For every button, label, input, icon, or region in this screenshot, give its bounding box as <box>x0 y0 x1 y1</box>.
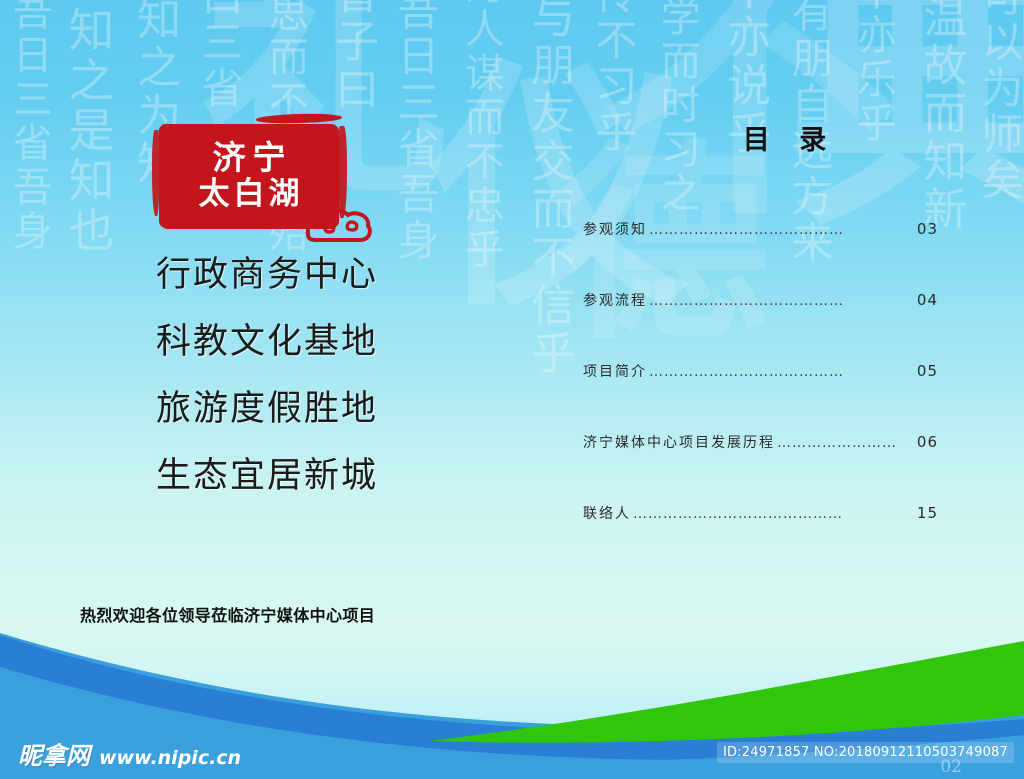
slogan-list: 行政商务中心 科教文化基地 旅游度假胜地 生态宜居新城 <box>156 258 486 526</box>
bg-text-column: 与朋友交而不信乎 <box>524 0 573 378</box>
bg-text-column: 曾子曰 <box>328 0 377 114</box>
toc-entry-page: 06 <box>917 433 938 451</box>
toc-entry[interactable]: 参观须知 ………………………………… 03 <box>583 219 938 239</box>
watermark-url: www.nipic.cn <box>99 747 241 769</box>
toc-entry-page: 05 <box>917 362 938 380</box>
seal-logo: 济宁 太白湖 <box>160 124 338 228</box>
auspicious-cloud-icon <box>304 198 374 242</box>
toc-entry-page: 15 <box>917 504 938 522</box>
bg-text-column: 可以为师矣 <box>976 0 1023 204</box>
watermark-logo: 昵拿网 <box>18 736 90 771</box>
toc-leader-dots: …………………………………… <box>633 506 915 522</box>
bg-text-column: 为人谋而不忠乎 <box>458 0 503 272</box>
toc-leader-dots: ………………………………… <box>649 222 915 238</box>
bg-text-column: 吾日三省吾身 <box>392 0 439 264</box>
bg-text-column: 曰三省 <box>196 0 243 112</box>
table-of-contents: 目 录 参观须知 ………………………………… 03 参观流程 ………………………… <box>583 118 938 523</box>
toc-list: 参观须知 ………………………………… 03 参观流程 …………………………………… <box>583 219 938 523</box>
toc-title: 目 录 <box>641 118 938 157</box>
toc-leader-dots: ………………………………… <box>649 364 915 380</box>
toc-entry[interactable]: 项目简介 ………………………………… 05 <box>583 361 938 381</box>
toc-entry-page: 04 <box>917 291 938 309</box>
slogan-line: 旅游度假胜地 <box>156 392 486 427</box>
toc-entry-label: 参观须知 <box>583 219 647 239</box>
toc-entry-label: 参观流程 <box>583 290 647 310</box>
slogan-line: 生态宜居新城 <box>156 459 486 494</box>
toc-leader-dots: …………………… <box>777 435 915 451</box>
toc-entry[interactable]: 济宁媒体中心项目发展历程 …………………… 06 <box>583 432 938 452</box>
toc-entry-label: 项目简介 <box>583 361 647 381</box>
toc-leader-dots: ………………………………… <box>649 293 915 309</box>
toc-entry[interactable]: 联络人 …………………………………… 15 <box>583 503 938 523</box>
toc-entry-page: 03 <box>917 220 938 238</box>
site-watermark: 昵拿网 www.nipic.cn <box>18 736 241 771</box>
seal-line-2: 太白湖 <box>195 178 304 211</box>
toc-entry-label: 济宁媒体中心项目发展历程 <box>583 432 775 452</box>
seal-line-1: 济宁 <box>206 140 293 176</box>
bg-text-column: 不知之是知也 <box>62 0 114 256</box>
toc-entry-label: 联络人 <box>583 503 631 523</box>
toc-entry[interactable]: 参观流程 ………………………………… 04 <box>583 290 938 310</box>
slogan-line: 行政商务中心 <box>156 258 486 293</box>
seal-top-stroke <box>256 113 342 125</box>
asset-id-badge: ID:24971857 NO:20180912110503749087 <box>717 742 1014 763</box>
document-page: 吾日三省吾身 不知之是知也 知之为知 曰三省 思而不学则殆 曾子曰 吾日三省吾身… <box>0 0 1024 779</box>
bg-text-column: 吾日三省吾身 <box>6 0 51 254</box>
slogan-line: 科教文化基地 <box>156 325 486 360</box>
